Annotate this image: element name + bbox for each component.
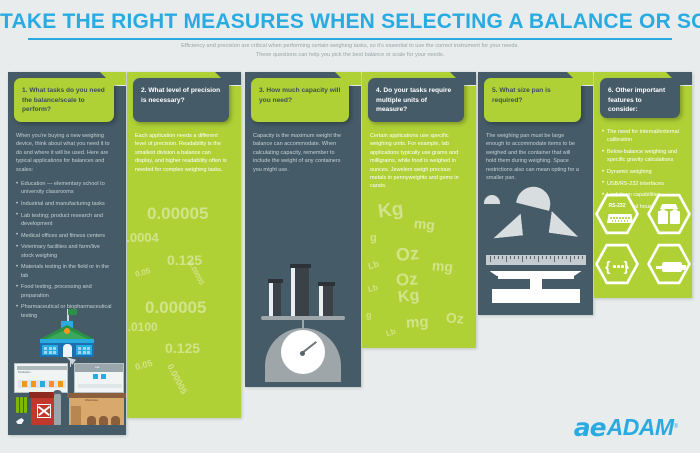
watermark-value: 0.00005 [145,298,206,318]
protractor-small-icon [484,195,500,204]
watermark-unit: Lb [385,327,397,339]
set-square-icon [490,213,522,238]
column-3-heading: 3. How much capacity will you need? [259,87,340,104]
column-3-text: Capacity is the maximum weight the balan… [253,132,349,180]
school-windows-right [76,345,92,355]
list-item: Industrial and manufacturing tasks [16,200,114,208]
column-3-fold-tab [335,72,361,98]
watermark-value: 0.00005 [165,362,189,395]
list-item: Below-balance weighing and specific grav… [602,148,680,165]
watermark-unit: Kg [397,287,420,307]
scale-needle-hub [300,351,305,356]
column-3-body: 3. How much capacity will you need? Capa… [245,72,361,387]
hex-below-balance: { } [595,242,639,286]
list-item: Medical offices and fitness centers [16,232,114,240]
below-balance-hook-icon [613,265,627,268]
serial-port-icon [607,214,633,223]
watermark-unit: Oz [395,243,420,266]
page-subtitle: Efficiency and precision are critical wh… [60,42,640,60]
usb-icon [662,262,682,272]
column-4-body: 4. Do your tasks require multiple units … [362,72,476,348]
page-title: TAKE THE RIGHT MEASURES WHEN SELECTING A… [0,10,700,34]
hex-weights [647,192,691,236]
silo-icon [54,393,61,425]
column-3-heading-bubble: 3. How much capacity will you need? [251,78,349,122]
usb-tip [680,265,686,270]
watermark-unit: mg [406,313,429,331]
column-6-heading: 6. Other important features to consider: [608,87,665,113]
watermark-value: 0.0100 [127,320,158,334]
column-2-intro: Each application needs a different level… [135,132,229,174]
list-item: Materials testing in the field or in the… [16,263,114,280]
warehouse-label: Warehouse [85,399,98,402]
list-item: Education — elementary school to univers… [16,180,114,197]
school-trim [40,339,94,343]
column-5-text: The weighing pan must be large enough to… [486,132,581,188]
production-label: Production [18,371,30,374]
column-1-heading: 1. What tasks do you need the balance/sc… [22,87,105,113]
column-4-intro: Certain applications use specific weighi… [370,132,464,191]
weight-icon [269,283,281,316]
title-underline [28,38,672,40]
set-square-icon [548,211,581,237]
watermark-unit: Oz [445,309,464,326]
subtitle-line-1: Efficiency and precision are critical wh… [60,42,640,51]
column-6-fold-tab [666,72,692,98]
flag-icon [68,309,77,315]
weight-icon [319,286,333,316]
adam-logo: ae ADAM ® [574,414,678,440]
warehouse-icon: Warehouse [69,397,124,425]
hex-rs232: RS-232 [595,192,639,236]
watermark-value: 0.05 [134,266,151,279]
column-6-body: 6. Other important features to consider:… [594,72,692,298]
column-6-heading-bubble: 6. Other important features to consider: [600,78,680,118]
school-building-icon [40,317,94,357]
rs232-label: RS-232 [598,203,636,209]
lab-label: Lab [95,366,99,369]
list-item: Veterinary facilities and farm/live stoc… [16,243,114,260]
infographic-page: TAKE THE RIGHT MEASURES WHEN SELECTING A… [0,0,700,453]
dial-scale-illustration [257,262,349,382]
watermark-unit: g [366,310,372,320]
column-5-fold-tab [567,72,593,98]
logo-wordmark: ADAM [607,416,674,439]
column-2-fold-tab [215,72,241,98]
watermark-value: 0.05 [134,358,154,372]
column-4-heading: 4. Do your tasks require multiple units … [376,87,451,113]
watermark-unit: Lb [367,259,381,272]
school-door [63,344,72,357]
watermark-unit: mg [431,257,453,275]
logo-mark: ae [574,415,606,440]
readability-number-cloud: 0.00005 0.0004 0.125 0.05 0.00005 0.0000… [127,72,241,418]
clock-icon [64,328,70,334]
dish-mast [70,361,71,367]
watermark-unit: g [370,232,377,244]
column-5-heading-bubble: 5. What size pan is required? [484,78,581,122]
watermark-value: 0.125 [167,252,202,268]
list-item: Dynamic weighing [602,168,680,176]
scale-stem [302,318,304,328]
protractor-large-icon [516,183,554,211]
feature-hexagon-icons: RS-232 [595,192,691,288]
pan-size-illustration [484,181,588,309]
column-4-fold-tab [450,72,476,98]
column-3-intro: Capacity is the maximum weight the balan… [253,132,349,174]
column-5-heading: 5. What size pan is required? [492,87,551,104]
column-1-heading-bubble: 1. What tasks do you need the balance/sc… [14,78,114,122]
column-2-text: Each application needs a different level… [135,132,229,180]
goose-icon [16,418,24,424]
production-building-icon: Production [14,363,68,393]
watermark-unit: Kg [377,199,405,224]
registered-mark: ® [674,424,678,430]
column-1-fold-tab [100,72,126,98]
watermark-value: 0.00005 [147,204,208,224]
column-2-heading-bubble: 2. What level of precision is necessary? [133,78,229,122]
column-4-heading-bubble: 4. Do your tasks require multiple units … [368,78,464,122]
list-item: The need for internal/external calibrati… [602,128,680,145]
column-2-heading: 2. What level of precision is necessary? [141,87,220,104]
ruler-icon [486,255,586,265]
column-5-intro: The weighing pan must be large enough to… [486,132,581,182]
school-windows-left [42,345,58,355]
column-5-body: 5. What size pan is required? The weighi… [478,72,593,315]
weight-icon [291,268,309,316]
column-4-text: Certain applications use specific weighi… [370,132,464,197]
column-2-body: 2. What level of precision is necessary?… [127,72,241,418]
lab-building-icon: Lab [74,363,124,393]
list-item: USB/RS-232 interfaces [602,180,680,188]
list-item: Lab testing; product research and develo… [16,212,114,229]
balance-pan-icon [490,271,582,307]
question-columns: 1. What tasks do you need the balance/sc… [0,72,700,453]
column-1-text: When you're buying a new weighing device… [16,132,114,323]
village-illustration: Production Lab [14,317,128,427]
column-1-bullet-list: Education — elementary school to univers… [16,180,114,320]
list-item: Food testing, processing and preparation [16,283,114,300]
page-header: TAKE THE RIGHT MEASURES WHEN SELECTING A… [0,0,700,72]
watermark-unit: Lb [367,283,379,294]
column-1-intro: When you're buying a new weighing device… [16,132,114,174]
watermark-unit: Oz [395,269,418,290]
hex-usb [647,242,691,286]
watermark-value: 0.00005 [187,261,205,287]
watermark-unit: mg [413,215,436,233]
bracket-left-icon: { [605,258,610,274]
subtitle-line-2: These questions can help you pick the be… [60,51,640,60]
watermark-value: 0.0004 [127,230,159,245]
watermark-value: 0.125 [165,340,200,356]
column-1-body: 1. What tasks do you need the balance/sc… [8,72,126,435]
